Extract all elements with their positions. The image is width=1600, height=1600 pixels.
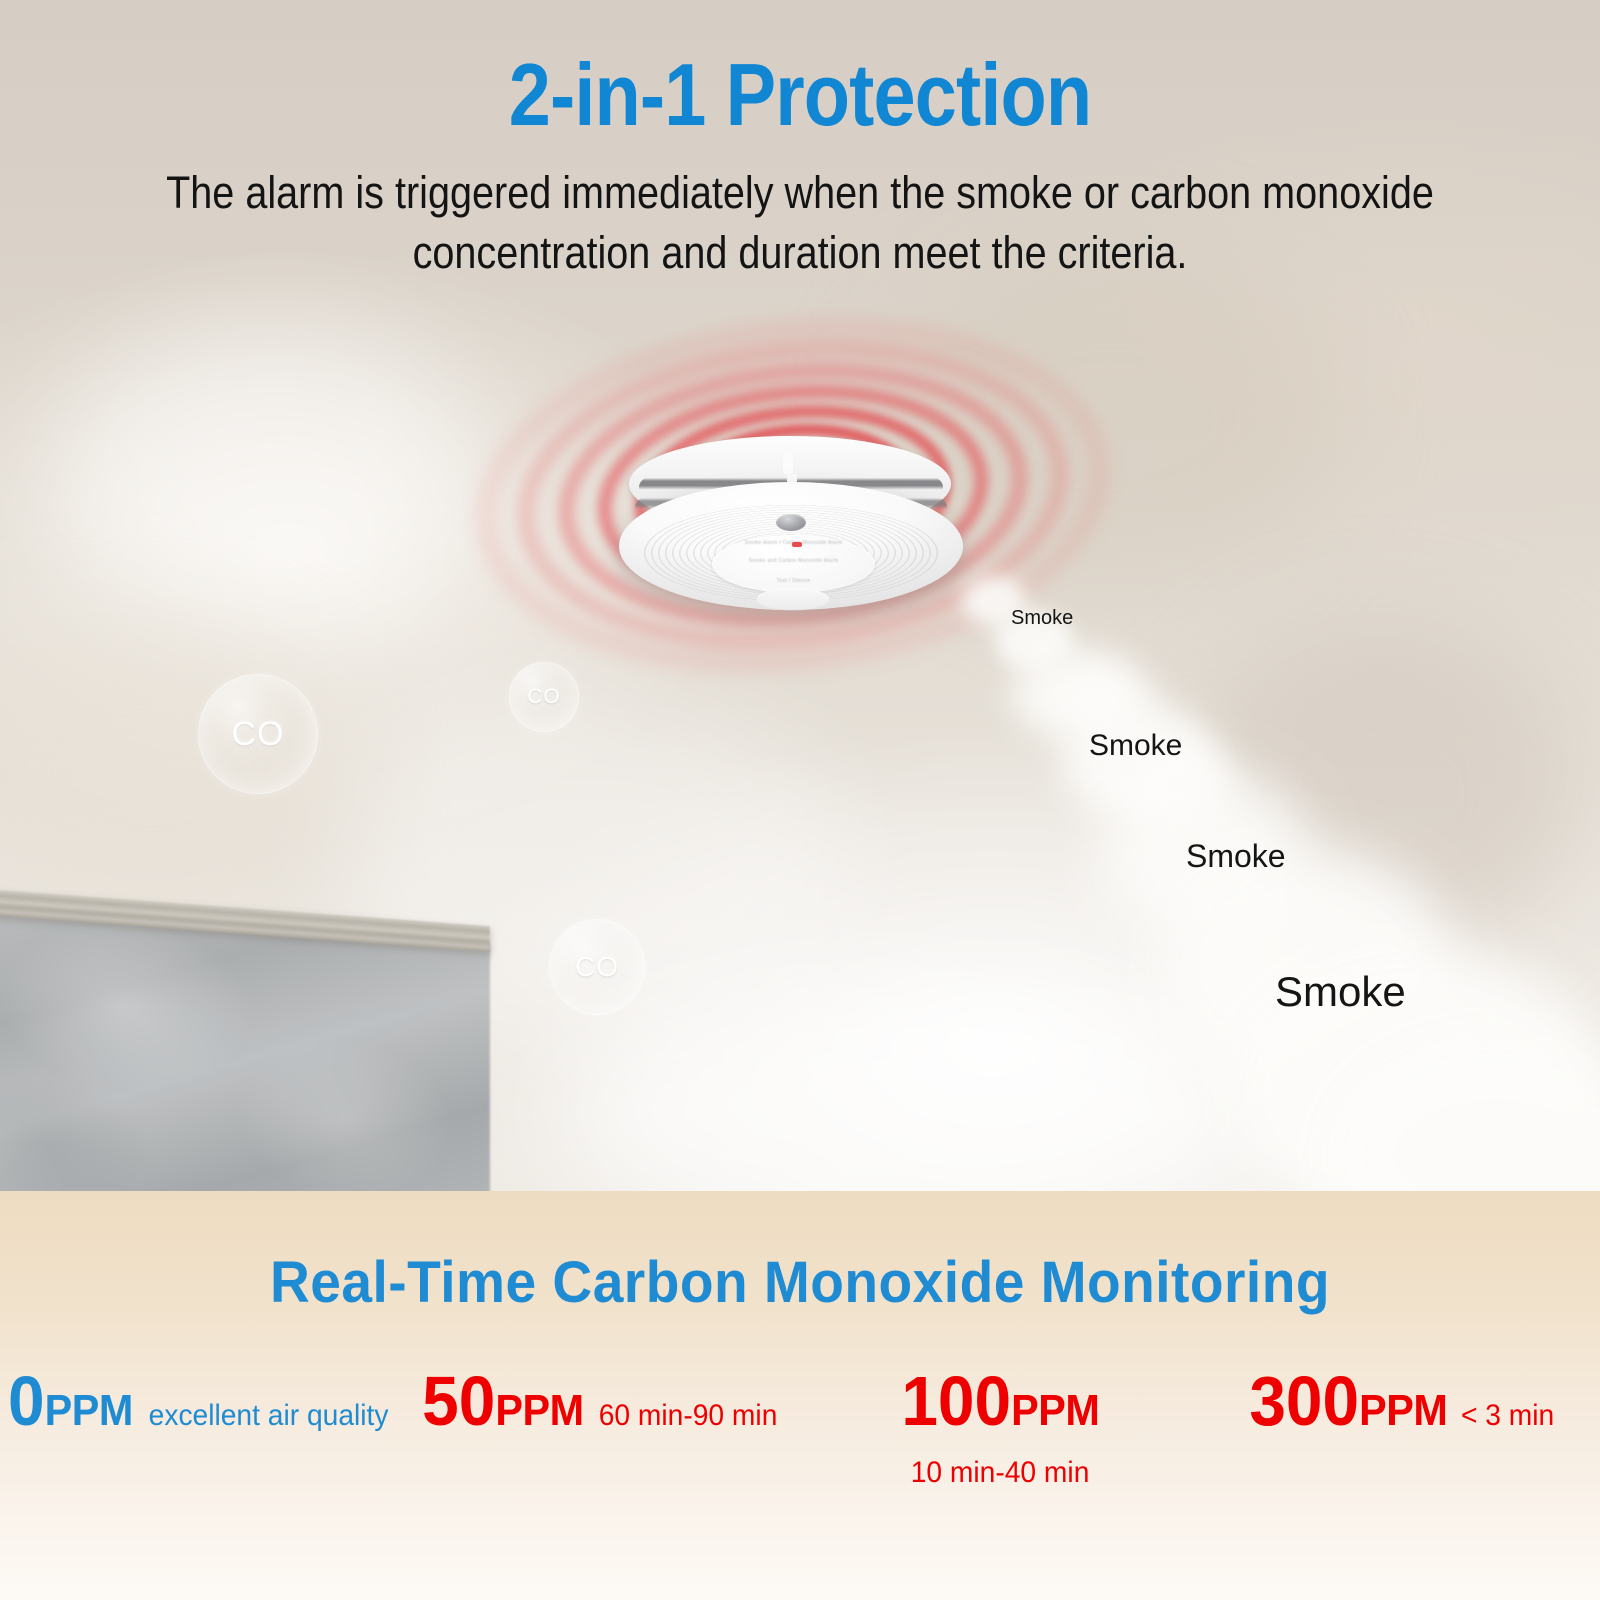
- co-bubble: CO: [198, 674, 318, 794]
- smoke-label: Smoke: [1089, 729, 1182, 763]
- ppm-number: 100: [901, 1362, 1011, 1440]
- panel-title: Real-Time Carbon Monoxide Monitoring: [40, 1191, 1560, 1312]
- ppm-value: 50PPM: [422, 1366, 583, 1436]
- page-subtitle: The alarm is triggered immediately when …: [158, 163, 1443, 282]
- ppm-stat-item: 50PPM 60 min-90 min: [400, 1366, 800, 1488]
- ppm-number: 0: [8, 1362, 45, 1440]
- smoke-plume-blob: [1065, 664, 1153, 734]
- co-bubble: CO: [549, 919, 645, 1015]
- ppm-value: 0PPM: [8, 1366, 133, 1436]
- co-bubble: CO: [509, 662, 579, 732]
- smoke-label: Smoke: [1275, 968, 1406, 1016]
- detector-led-indicator: [792, 542, 802, 547]
- ppm-unit: PPM: [44, 1386, 132, 1435]
- smoke-label: Smoke: [1186, 838, 1286, 875]
- wall-panel: [0, 905, 490, 1191]
- monitoring-panel: Real-Time Carbon Monoxide Monitoring 0PP…: [0, 1191, 1600, 1600]
- ppm-stat-item: 100PPM 10 min-40 min: [800, 1366, 1200, 1488]
- ppm-unit: PPM: [495, 1386, 583, 1435]
- ppm-number: 300: [1249, 1362, 1359, 1440]
- detector-test-button[interactable]: [757, 588, 829, 610]
- detector-face-text-bottom: Test / Silence: [712, 579, 875, 585]
- page-title: 2-in-1 Protection: [112, 0, 1488, 141]
- co-bubble-label: CO: [232, 715, 285, 754]
- smoke-label: Smoke: [1011, 607, 1073, 630]
- ppm-stats-row: 0PPM excellent air quality 50PPM 60 min-…: [0, 1366, 1600, 1488]
- ppm-value: 100PPM: [901, 1366, 1099, 1436]
- haze-blob: [560, 980, 1260, 1191]
- ppm-number: 50: [422, 1362, 495, 1440]
- ppm-description: excellent air quality: [149, 1401, 389, 1431]
- ppm-description: 60 min-90 min: [599, 1401, 778, 1431]
- ppm-value: 300PPM: [1249, 1366, 1447, 1436]
- detector-sensor-port: [776, 514, 806, 531]
- co-bubble-label: CO: [575, 951, 619, 983]
- detector-face-text-mid: Smoke and Carbon Monoxide Alarm: [712, 559, 875, 565]
- header-block: 2-in-1 Protection The alarm is triggered…: [0, 0, 1600, 282]
- smoke-detector-device: Smoke Alarm / Carbon Monoxide Alarm Smok…: [611, 430, 971, 615]
- infographic-page: Smoke Alarm / Carbon Monoxide Alarm Smok…: [0, 0, 1600, 1600]
- ppm-unit: PPM: [1011, 1386, 1099, 1435]
- ppm-stat-item: 300PPM < 3 min: [1200, 1366, 1600, 1488]
- co-bubble-label: CO: [527, 685, 561, 709]
- detector-vent-tab: [783, 452, 793, 474]
- ppm-description: 10 min-40 min: [911, 1458, 1090, 1488]
- ppm-stat-item: 0PPM excellent air quality: [0, 1366, 400, 1488]
- haze-blob: [60, 330, 480, 630]
- ppm-description: < 3 min: [1461, 1401, 1554, 1431]
- ppm-unit: PPM: [1359, 1386, 1447, 1435]
